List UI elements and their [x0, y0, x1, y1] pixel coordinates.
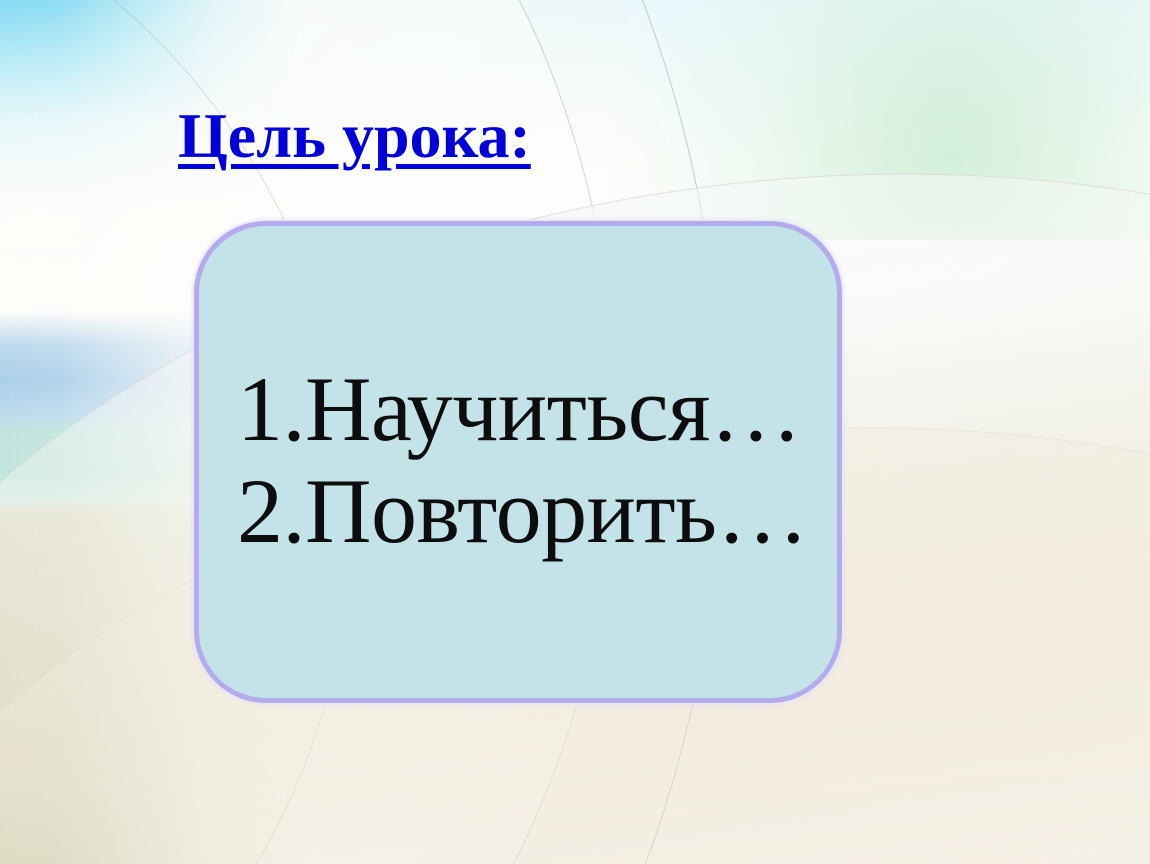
presentation-slide: Цель урока: 1.Научиться… 2.Повторить… — [0, 0, 1150, 864]
slide-title: Цель урока: — [178, 104, 531, 168]
lesson-goals-box: 1.Научиться… 2.Повторить… — [194, 221, 842, 703]
goal-item-2: 2.Повторить… — [237, 460, 837, 562]
goal-item-1: 1.Научиться… — [237, 358, 837, 460]
